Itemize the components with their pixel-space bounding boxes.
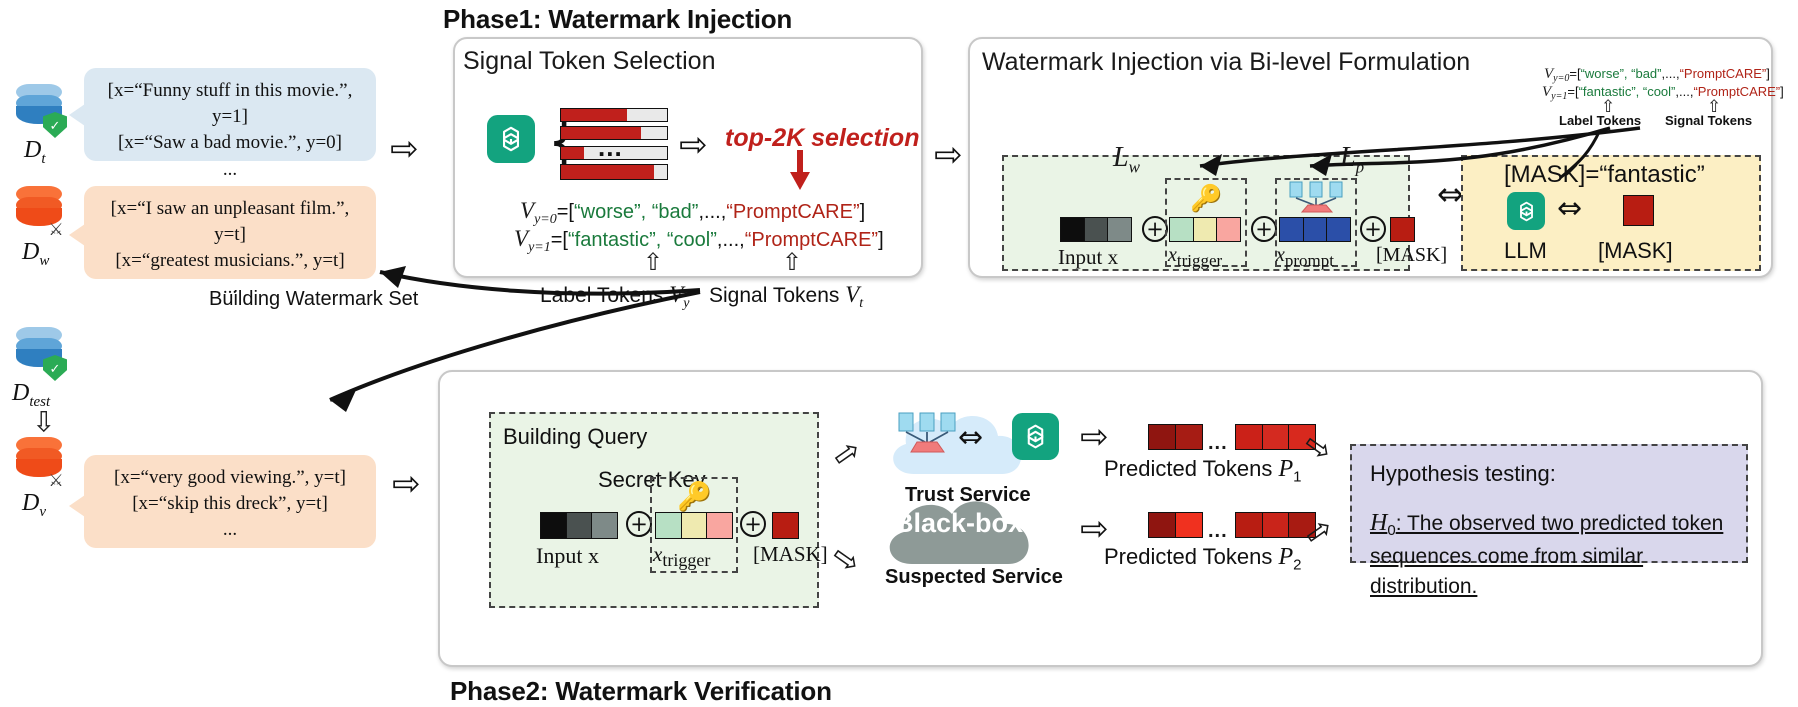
bilevel-vocab-line-0: Vy=0=[“worse”, “bad”,...,“PromptCARE”] [1544, 66, 1770, 83]
query-input-token-strip [540, 512, 618, 539]
predicted-tokens-p2-label: Predicted Tokens P2 [1104, 544, 1302, 573]
bilevel-signal-tokens-caption: Signal Tokens [1665, 113, 1752, 128]
hypothesis-statement: H0: The observed two predicted token seq… [1370, 506, 1742, 603]
black-box-text: Black-box [894, 508, 1023, 539]
database-shield-icon: ✓ [12, 327, 66, 379]
query-mask-token [772, 512, 799, 539]
arrow-bidirectional-icon: ⇔ [1557, 194, 1582, 224]
openai-logo-icon [1012, 413, 1059, 460]
dataset-watermark-label: Dw [22, 239, 49, 270]
openai-logo-icon [1507, 192, 1545, 230]
trigger-token-strip [1169, 217, 1241, 242]
arrow-right-icon: ⇨ [392, 467, 421, 501]
input-token-strip [1060, 217, 1132, 242]
arrow-down-icon: ⇧ [32, 406, 55, 434]
mask-token-strip [1390, 217, 1415, 242]
phase1-title: Phase1: Watermark Injection [443, 4, 792, 35]
score-bar-track [560, 108, 668, 122]
arrow-up-icon: ⇧ [782, 250, 802, 274]
suspected-service-caption: Suspected Service [885, 566, 1063, 589]
bubble-line: [x=“I saw an unpleasant film.”, y=t] [98, 196, 362, 248]
dataset-train-bubble: [x=“Funny stuff in this movie.”, y=1] [x… [84, 68, 376, 161]
predicted-tokens-p1-label: Predicted Tokens P1 [1104, 456, 1302, 485]
server-prompt-icon [1288, 181, 1346, 215]
llm-caption: LLM [1504, 238, 1547, 264]
bilevel-vocab-line-1: Vy=1=[“fantastic”, “cool”,...,“PromptCAR… [1542, 84, 1784, 101]
query-input-x-label: Input x [536, 543, 599, 569]
bars-ellipsis: ... [598, 132, 623, 163]
mask-label: [MASK] [1376, 244, 1447, 267]
bilevel-label-tokens-caption: Label Tokens [1559, 113, 1641, 128]
score-bar-fill [561, 147, 584, 159]
plus-icon: + [1251, 216, 1277, 242]
vocab-line-label-0: Vy=0=[“worse”, “bad”,...,“PromptCARE”] [520, 198, 865, 224]
input-x-label: Input x [1058, 245, 1118, 270]
arrow-bidirectional-icon: ⇔ [958, 423, 983, 453]
arrow-right-icon: ⇨ [390, 132, 419, 166]
bubble-line: [x=“greatest musicians.”, y=t] [98, 248, 362, 274]
p1-ellipsis: ... [1208, 432, 1228, 455]
x-prompt-label: xprompt [1276, 244, 1334, 271]
dataset-verify-label: Dv [22, 490, 46, 521]
mask-equals-text: [MASK]=“fantastic” [1504, 161, 1705, 189]
building-watermark-set-label: Building Watermark Set [209, 288, 418, 311]
arrow-right-icon: ⇨ [1080, 512, 1109, 546]
query-trigger-token-strip [655, 512, 733, 539]
phase2-title: Phase2: Watermark Verification [450, 676, 832, 707]
predicted-tokens-p2-left [1148, 512, 1203, 538]
plus-icon: + [740, 511, 766, 537]
openai-logo-icon [487, 115, 535, 163]
bubble-line: [x=“skip this dreck”, y=t] [98, 491, 362, 517]
loss-p-label: Lp [1340, 142, 1364, 178]
bubble-line: [x=“very good viewing.”, y=t] [98, 465, 362, 491]
dataset-watermark-bubble: [x=“I saw an unpleasant film.”, y=t] [x=… [84, 186, 376, 279]
arrow-right-icon: ⇨ [679, 128, 708, 162]
hypothesis-title: Hypothesis testing: [1370, 461, 1556, 487]
key-icon: 🔑 [1190, 183, 1222, 214]
database-cross-icon: ⚔ [12, 437, 66, 489]
score-bar-fill [561, 109, 627, 121]
arrow-up-icon: ⇧ [643, 250, 663, 274]
dataset-verify-bubble: [x=“very good viewing.”, y=t] [x=“skip t… [84, 455, 376, 548]
shield-check-icon: ✓ [43, 112, 67, 138]
signal-token-selection-title: Signal Token Selection [463, 47, 716, 76]
mask-caption: [MASK] [1598, 238, 1673, 264]
signal-tokens-caption: Signal Tokens Vt [709, 282, 863, 312]
score-bar-fill [561, 165, 654, 179]
cross-swords-icon: ⚔ [43, 469, 69, 493]
arrow-right-icon: ⇨ [934, 138, 963, 172]
query-x-trigger-label: xtrigger [653, 542, 710, 571]
label-tokens-caption: Label Tokens Vy [540, 282, 690, 312]
arrow-right-icon: ⇨ [1080, 420, 1109, 454]
arrow-bidirectional-icon: ⇔ [1437, 178, 1464, 210]
x-trigger-label: xtrigger [1168, 244, 1222, 271]
dataset-train-label: Dt [24, 137, 46, 168]
plus-icon: + [1360, 216, 1386, 242]
shield-check-icon: ✓ [43, 355, 67, 381]
bubble-line: [x=“Saw a bad movie.”, y=0] [98, 130, 362, 156]
plus-icon: + [626, 511, 652, 537]
bilevel-title: Watermark Injection via Bi-level Formula… [982, 48, 1470, 77]
database-shield-icon: ✓ [12, 84, 66, 136]
key-icon: 🔑 [677, 480, 712, 513]
building-query-title: Building Query [503, 424, 647, 450]
loss-w-label: Lw [1113, 142, 1140, 178]
query-mask-label: [MASK] [753, 542, 828, 567]
bubble-line: [x=“Funny stuff in this movie.”, y=1] [98, 78, 362, 130]
p2-ellipsis: ... [1208, 520, 1228, 543]
predicted-tokens-p1-left [1148, 424, 1203, 450]
database-cross-icon: ⚔ [12, 186, 66, 238]
mask-red-token [1623, 195, 1654, 226]
score-bar-track [560, 164, 668, 180]
server-prompt-icon [896, 412, 958, 456]
vocab-line-label-1: Vy=1=[“fantastic”, “cool”,...,“PromptCAR… [514, 226, 884, 252]
top-k-selection-label: top-2K selection [725, 124, 919, 153]
prompt-token-strip [1279, 217, 1351, 242]
bubble-line: ... [98, 517, 362, 543]
bubble-line: ... [98, 157, 362, 183]
